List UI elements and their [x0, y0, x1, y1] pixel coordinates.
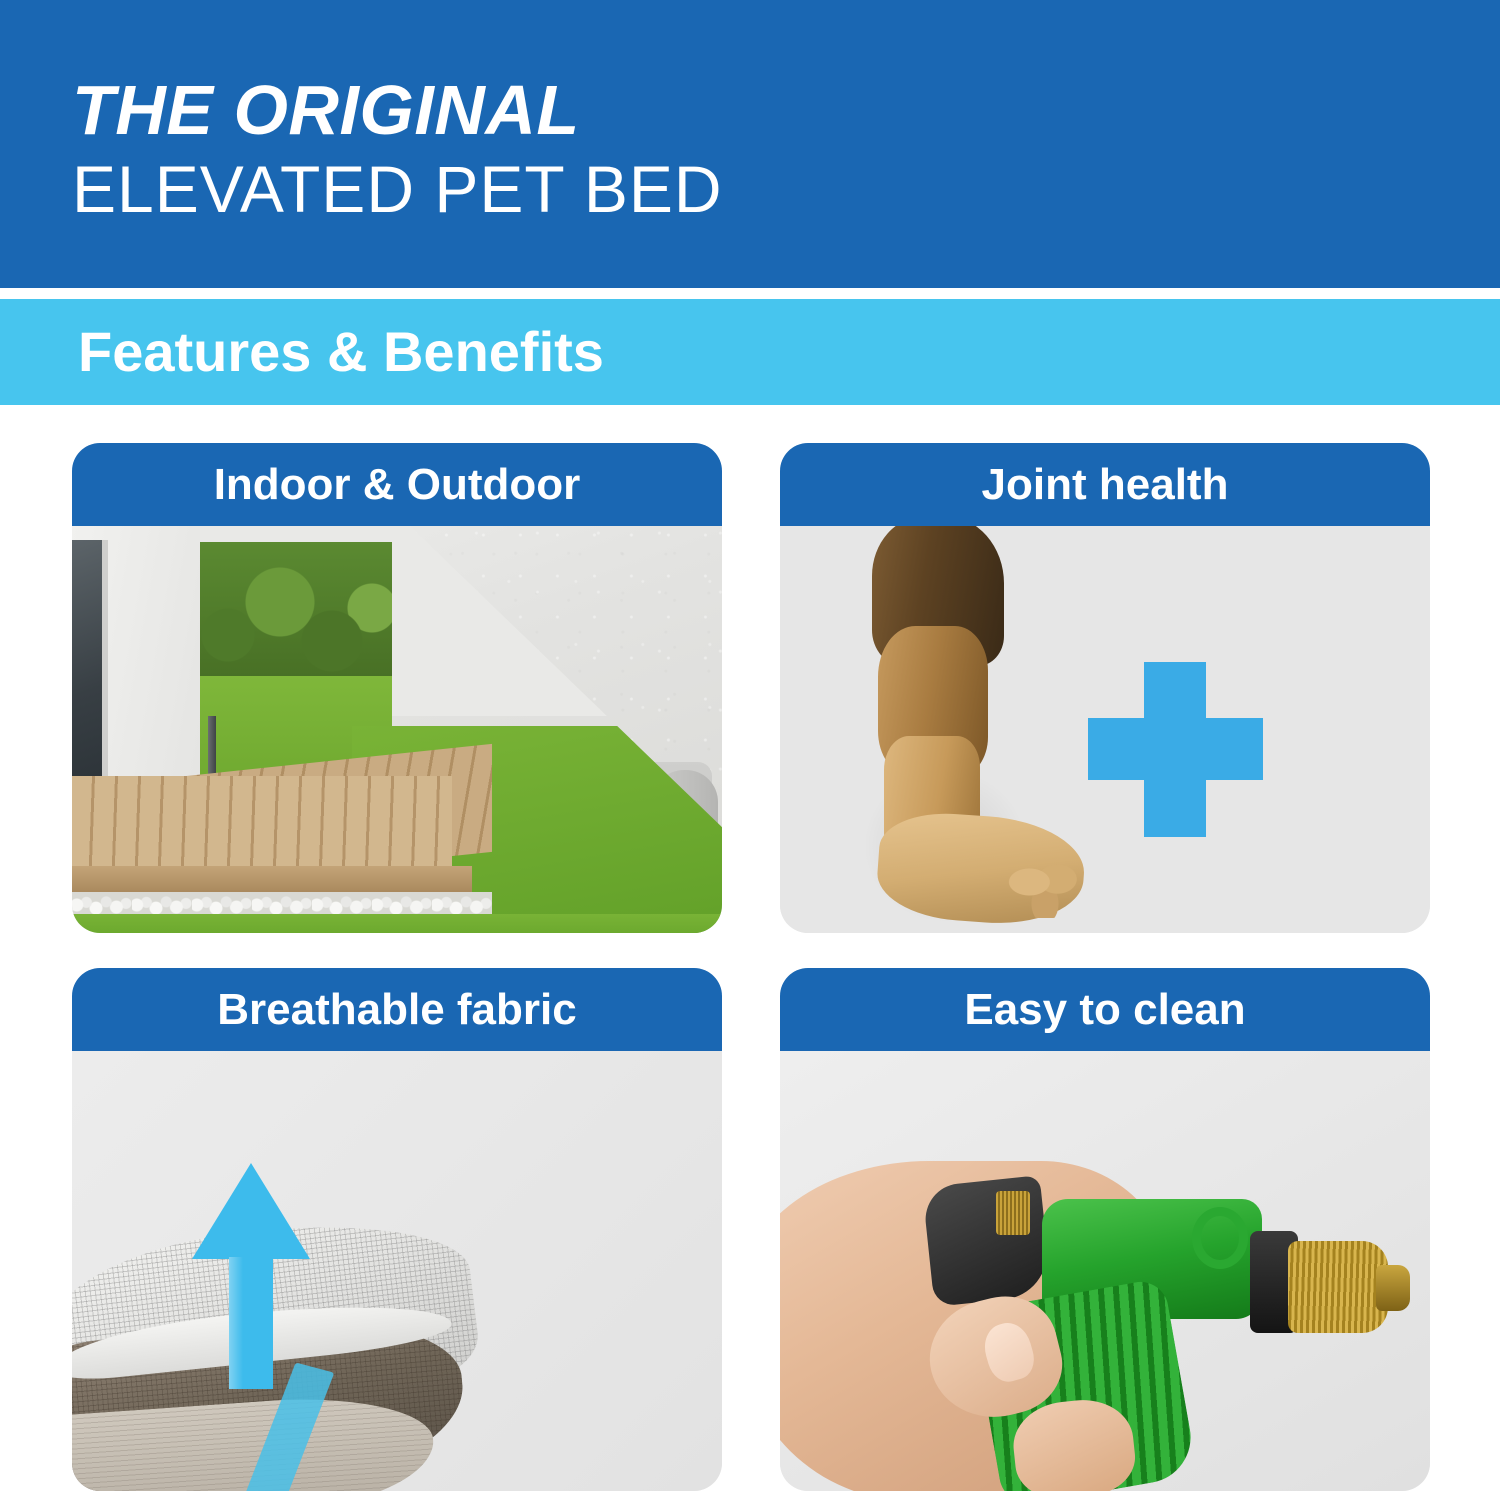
page-title-primary: THE ORIGINAL — [72, 72, 723, 148]
card-title: Joint health — [982, 460, 1229, 510]
features-banner-label: Features & Benefits — [78, 321, 604, 383]
card-image-indoor-outdoor — [72, 526, 722, 933]
features-banner: Features & Benefits — [0, 299, 1500, 405]
feature-card-easy-to-clean: Easy to clean — [780, 968, 1430, 1491]
trees — [192, 542, 392, 692]
card-header: Breathable fabric — [72, 968, 722, 1051]
feature-card-joint-health: Joint health — [780, 443, 1430, 933]
feature-card-breathable-fabric: Breathable fabric — [72, 968, 722, 1491]
page-title-secondary: ELEVATED PET BED — [72, 152, 723, 226]
paw-toes — [1006, 846, 1084, 918]
feature-card-indoor-outdoor: Indoor & Outdoor — [72, 443, 722, 933]
brass-adjust-screw — [996, 1191, 1030, 1235]
arrow-highlight — [229, 1257, 243, 1389]
brass-nozzle-tip — [1376, 1265, 1410, 1311]
glass-door — [72, 540, 106, 790]
arrow-head — [192, 1163, 310, 1259]
card-title: Breathable fabric — [217, 985, 576, 1035]
deck-planks-front — [72, 776, 452, 872]
card-image-joint-health — [780, 526, 1430, 933]
cross-vertical-bar — [1144, 662, 1206, 837]
card-header: Joint health — [780, 443, 1430, 526]
card-header: Easy to clean — [780, 968, 1430, 1051]
card-title: Easy to clean — [964, 985, 1245, 1035]
feature-card-grid: Indoor & Outdoor — [0, 405, 1500, 1465]
card-image-breathable-fabric — [72, 1051, 722, 1491]
card-header: Indoor & Outdoor — [72, 443, 722, 526]
hero-title-block: THE ORIGINAL ELEVATED PET BED — [72, 72, 723, 226]
brass-nozzle-head — [1288, 1241, 1388, 1333]
card-title: Indoor & Outdoor — [214, 460, 581, 510]
split-scene-illustration — [72, 526, 722, 933]
header-divider — [0, 288, 1500, 294]
airflow-arrow-up-icon — [192, 1163, 310, 1383]
lawn-foreground — [72, 914, 722, 933]
product-infographic: THE ORIGINAL ELEVATED PET BED Features &… — [0, 0, 1500, 1465]
door-frame — [102, 540, 108, 790]
hero-banner: THE ORIGINAL ELEVATED PET BED — [0, 0, 1500, 288]
deck-edge-beam — [72, 866, 472, 894]
nozzle-hang-hole — [1192, 1207, 1248, 1269]
medical-cross-icon — [1088, 662, 1263, 837]
dog-leg-photo — [820, 526, 1120, 933]
card-image-easy-to-clean — [780, 1051, 1430, 1491]
